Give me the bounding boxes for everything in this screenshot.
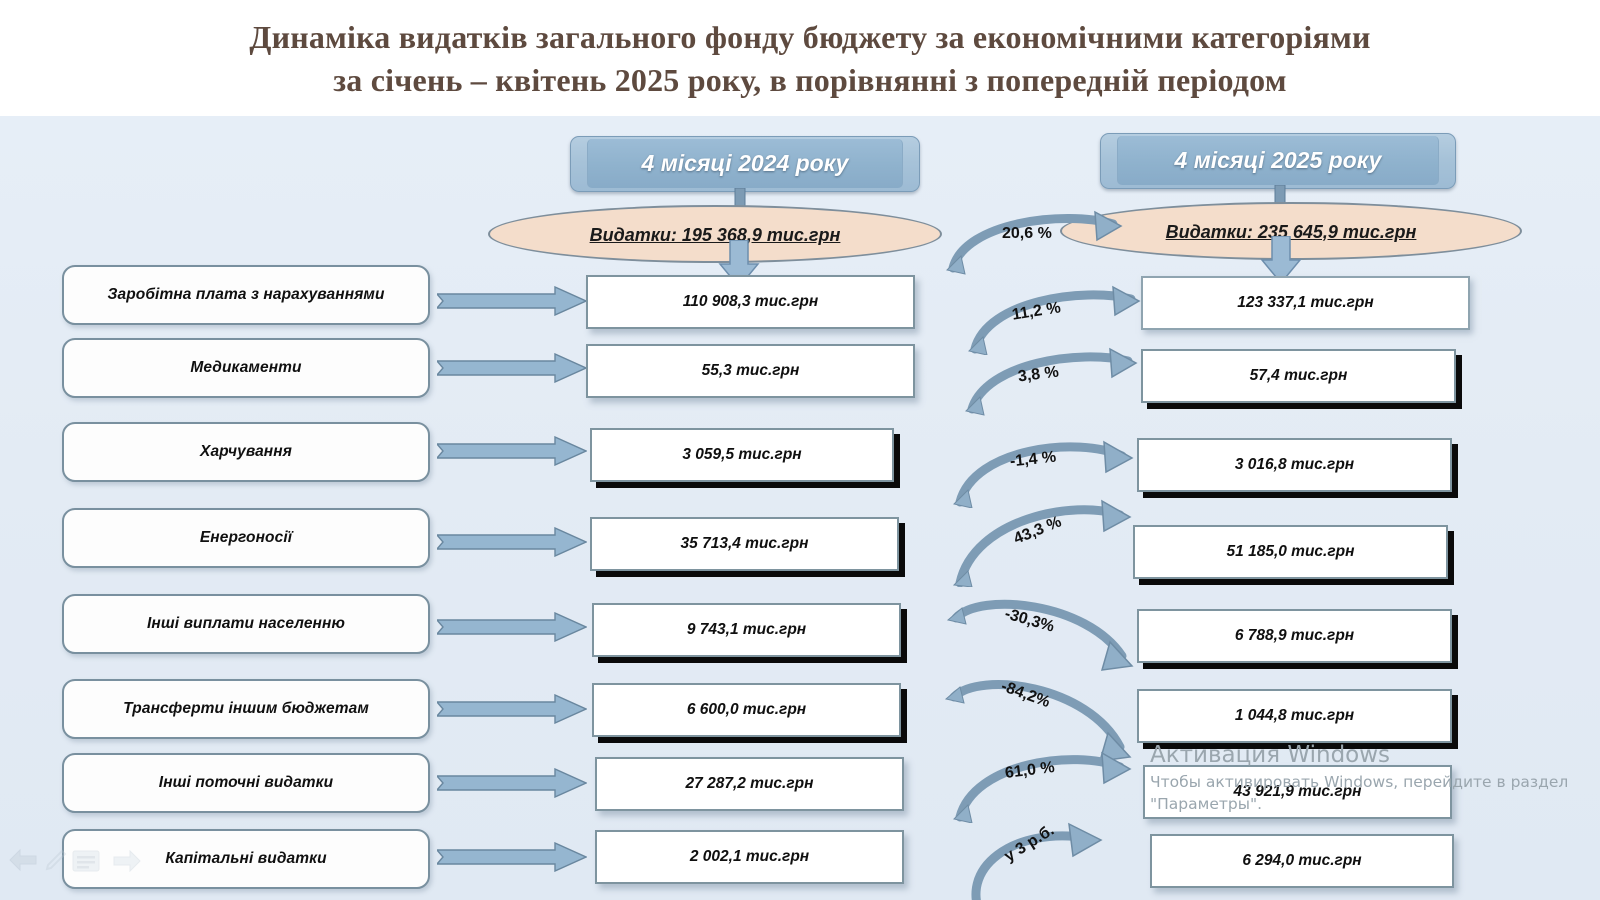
total-expenses-2024: Видатки: 195 368,9 тис.грн — [488, 205, 942, 263]
period-header-2025-inner: 4 місяці 2025 року — [1117, 136, 1439, 185]
category-label-0: Заробітна плата з нарахуваннями — [107, 286, 384, 304]
total-expenses-2024-label: Видатки: 195 368,9 тис.грн — [590, 225, 841, 246]
flow-arrow-icon-6 — [437, 768, 587, 798]
value-box-2025-3[interactable]: 51 185,0 тис.грн — [1133, 525, 1448, 579]
value-label-2025-2: 3 016,8 тис.грн — [1235, 456, 1354, 474]
slide-canvas: Динаміка видатків загального фонду бюдже… — [0, 0, 1600, 900]
category-box-2[interactable]: Харчування — [62, 422, 430, 482]
value-label-2025-0: 123 337,1 тис.грн — [1237, 294, 1374, 312]
page-title-line2: за січень – квітень 2025 року, в порівня… — [120, 59, 1500, 102]
flow-arrow-icon-1 — [437, 353, 587, 383]
change-arrow-icon-4 — [946, 590, 1131, 680]
value-box-2025-1[interactable]: 57,4 тис.грн — [1141, 349, 1456, 403]
period-header-2025-label: 4 місяці 2025 року — [1175, 147, 1382, 174]
category-label-4: Інші виплати населенню — [147, 615, 345, 633]
period-header-2024-label: 4 місяці 2024 року — [642, 150, 849, 177]
value-label-2024-2: 3 059,5 тис.грн — [682, 446, 801, 464]
value-box-2025-2[interactable]: 3 016,8 тис.грн — [1137, 438, 1452, 492]
category-box-1[interactable]: Медикаменти — [62, 338, 430, 398]
value-box-2024-0[interactable]: 110 908,3 тис.грн — [586, 275, 915, 329]
value-label-2025-3: 51 185,0 тис.грн — [1227, 543, 1355, 561]
change-label-total: 20,6 % — [1002, 225, 1052, 243]
next-slide-icon[interactable] — [112, 850, 142, 877]
category-box-6[interactable]: Інші поточні видатки — [62, 753, 430, 813]
value-box-2025-6[interactable]: 43 921,9 тис.грн — [1143, 765, 1452, 819]
category-label-7: Капітальні видатки — [165, 850, 326, 868]
category-box-5[interactable]: Трансферти іншим бюджетам — [62, 679, 430, 739]
value-box-2024-3[interactable]: 35 713,4 тис.грн — [590, 517, 899, 571]
pen-tool-icon[interactable] — [44, 848, 68, 877]
value-label-2024-7: 2 002,1 тис.грн — [690, 848, 809, 866]
category-box-0[interactable]: Заробітна плата з нарахуваннями — [62, 265, 430, 325]
value-box-2025-4[interactable]: 6 788,9 тис.грн — [1137, 609, 1452, 663]
value-label-2025-4: 6 788,9 тис.грн — [1235, 627, 1354, 645]
flow-arrow-icon-0 — [437, 286, 587, 316]
value-label-2025-1: 57,4 тис.грн — [1250, 367, 1348, 385]
value-label-2024-6: 27 287,2 тис.грн — [686, 775, 814, 793]
value-box-2024-6[interactable]: 27 287,2 тис.грн — [595, 757, 904, 811]
change-arrow-icon-3 — [948, 495, 1133, 585]
value-box-2024-7[interactable]: 2 002,1 тис.грн — [595, 830, 904, 884]
value-label-2024-5: 6 600,0 тис.грн — [687, 701, 806, 719]
period-header-2024: 4 місяці 2024 року — [570, 136, 920, 192]
value-label-2024-1: 55,3 тис.грн — [702, 362, 800, 380]
value-label-2024-4: 9 743,1 тис.грн — [687, 621, 806, 639]
category-label-1: Медикаменти — [190, 359, 301, 377]
flow-arrow-icon-7 — [437, 842, 587, 872]
previous-slide-icon[interactable] — [8, 848, 38, 877]
value-label-2024-0: 110 908,3 тис.грн — [683, 293, 818, 311]
category-label-5: Трансферти іншим бюджетам — [123, 700, 369, 718]
value-box-2024-5[interactable]: 6 600,0 тис.грн — [592, 683, 901, 737]
flow-arrow-icon-5 — [437, 694, 587, 724]
value-box-2024-1[interactable]: 55,3 тис.грн — [586, 344, 915, 398]
value-label-2024-3: 35 713,4 тис.грн — [681, 535, 809, 553]
value-box-2025-7[interactable]: 6 294,0 тис.грн — [1150, 834, 1454, 888]
period-header-2025: 4 місяці 2025 року — [1100, 133, 1456, 189]
category-box-4[interactable]: Інші виплати населенню — [62, 594, 430, 654]
flow-arrow-icon-2 — [437, 436, 587, 466]
page-title: Динаміка видатків загального фонду бюдже… — [120, 16, 1500, 102]
value-label-2025-7: 6 294,0 тис.грн — [1242, 852, 1361, 870]
category-label-2: Харчування — [200, 443, 292, 461]
slideshow-menu-icon[interactable] — [72, 850, 100, 877]
flow-arrow-icon-3 — [437, 527, 587, 557]
flow-arrow-icon-4 — [437, 612, 587, 642]
category-box-3[interactable]: Енергоносії — [62, 508, 430, 568]
page-title-line1: Динаміка видатків загального фонду бюдже… — [249, 19, 1370, 55]
period-header-2024-inner: 4 місяці 2024 року — [587, 139, 903, 188]
value-box-2024-2[interactable]: 3 059,5 тис.грн — [590, 428, 894, 482]
value-label-2025-5: 1 044,8 тис.грн — [1235, 707, 1354, 725]
value-box-2024-4[interactable]: 9 743,1 тис.грн — [592, 603, 901, 657]
value-box-2025-5[interactable]: 1 044,8 тис.грн — [1137, 689, 1452, 743]
category-label-6: Інші поточні видатки — [159, 774, 333, 792]
change-arrow-icon-1 — [962, 347, 1147, 437]
value-box-2025-0[interactable]: 123 337,1 тис.грн — [1141, 276, 1470, 330]
category-label-3: Енергоносії — [200, 529, 292, 547]
value-label-2025-6: 43 921,9 тис.грн — [1234, 783, 1362, 801]
